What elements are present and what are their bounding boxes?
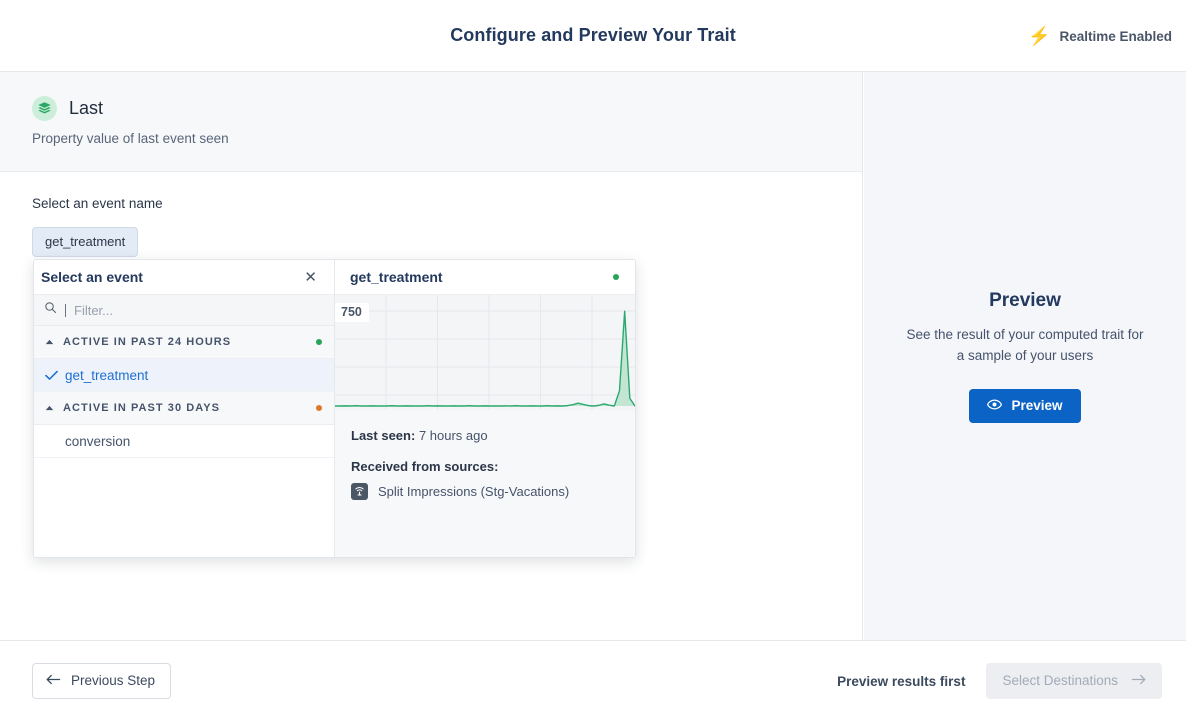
last-seen-value: 7 hours ago (419, 428, 488, 443)
previous-step-label: Previous Step (71, 673, 155, 688)
event-picker-popup: Select an event ✕ Filter... (33, 259, 636, 558)
selected-event-chip[interactable]: get_treatment (32, 227, 138, 257)
search-icon (44, 301, 57, 319)
event-list-item-label: get_treatment (65, 368, 148, 383)
trait-name: Last (69, 98, 103, 119)
event-name-section: Select an event name get_treatment (0, 172, 862, 257)
last-seen-label: Last seen: (351, 428, 415, 443)
text-caret (65, 304, 66, 317)
chart-y-axis-label: 750 (335, 303, 369, 322)
eye-icon (987, 398, 1002, 413)
trait-header: Last Property value of last event seen (0, 72, 862, 172)
arrow-right-icon (1131, 673, 1146, 688)
footer-right-group: Preview results first Select Destination… (837, 663, 1162, 699)
event-group-header-30d[interactable]: ACTIVE IN PAST 30 DAYS (34, 392, 334, 425)
preview-panel: Preview See the result of your computed … (864, 72, 1186, 640)
arrow-left-icon (46, 673, 61, 688)
trait-description: Property value of last event seen (32, 131, 862, 146)
sources-label: Received from sources: (351, 459, 619, 474)
event-section-label: Select an event name (32, 196, 862, 211)
event-detail-panel: get_treatment 750 Last seen: 7 hours ago… (335, 260, 635, 557)
event-list-item-label: conversion (65, 434, 130, 449)
last-seen-row: Last seen: 7 hours ago (351, 428, 619, 443)
event-group-label: ACTIVE IN PAST 24 HOURS (63, 336, 316, 348)
footer-hint: Preview results first (837, 674, 965, 689)
event-detail-body: Last seen: 7 hours ago Received from sou… (335, 410, 635, 557)
layers-stack-icon (32, 96, 57, 121)
event-filter-row[interactable]: Filter... (34, 295, 334, 326)
event-volume-chart: 750 (335, 295, 635, 410)
preview-button-label: Preview (1011, 398, 1062, 413)
realtime-label: Realtime Enabled (1059, 29, 1172, 44)
event-list-item-get-treatment[interactable]: get_treatment (34, 359, 334, 392)
select-destinations-label: Select Destinations (1002, 673, 1118, 688)
preview-title: Preview (989, 290, 1061, 312)
source-row[interactable]: Split Impressions (Stg-Vacations) (351, 483, 619, 500)
event-group-header-24h[interactable]: ACTIVE IN PAST 24 HOURS (34, 326, 334, 359)
page-title: Configure and Preview Your Trait (0, 0, 1186, 71)
status-dot-orange (316, 405, 322, 411)
event-list: ACTIVE IN PAST 24 HOURS get_treatment (34, 326, 334, 557)
preview-button[interactable]: Preview (969, 389, 1080, 423)
app-root: Configure and Preview Your Trait ⚡ Realt… (0, 0, 1186, 721)
source-signal-icon (351, 483, 368, 500)
previous-step-button[interactable]: Previous Step (32, 663, 171, 699)
footer-bar: Previous Step Preview results first Sele… (0, 640, 1186, 721)
chevron-up-icon[interactable] (45, 339, 54, 345)
event-picker-list-panel: Select an event ✕ Filter... (34, 260, 335, 557)
event-group-label: ACTIVE IN PAST 30 DAYS (63, 402, 316, 414)
source-name: Split Impressions (Stg-Vacations) (378, 484, 569, 499)
trait-title-row: Last (32, 96, 862, 121)
event-detail-title: get_treatment (350, 269, 613, 285)
event-picker-title: Select an event (41, 269, 301, 285)
chevron-up-icon[interactable] (45, 405, 54, 411)
preview-description: See the result of your computed trait fo… (905, 324, 1145, 366)
realtime-status: ⚡ Realtime Enabled (1028, 0, 1172, 72)
status-dot-green (316, 339, 322, 345)
event-list-item-conversion[interactable]: conversion (34, 425, 334, 458)
event-picker-header: Select an event ✕ (34, 260, 334, 295)
event-filter-input[interactable]: Filter... (74, 303, 113, 318)
status-dot-green (613, 274, 619, 280)
select-destinations-button[interactable]: Select Destinations (986, 663, 1162, 699)
check-icon (45, 370, 65, 381)
event-detail-header: get_treatment (335, 260, 635, 295)
lightning-bolt-icon: ⚡ (1028, 27, 1050, 45)
app-header: Configure and Preview Your Trait ⚡ Realt… (0, 0, 1186, 72)
close-icon[interactable]: ✕ (301, 268, 320, 287)
